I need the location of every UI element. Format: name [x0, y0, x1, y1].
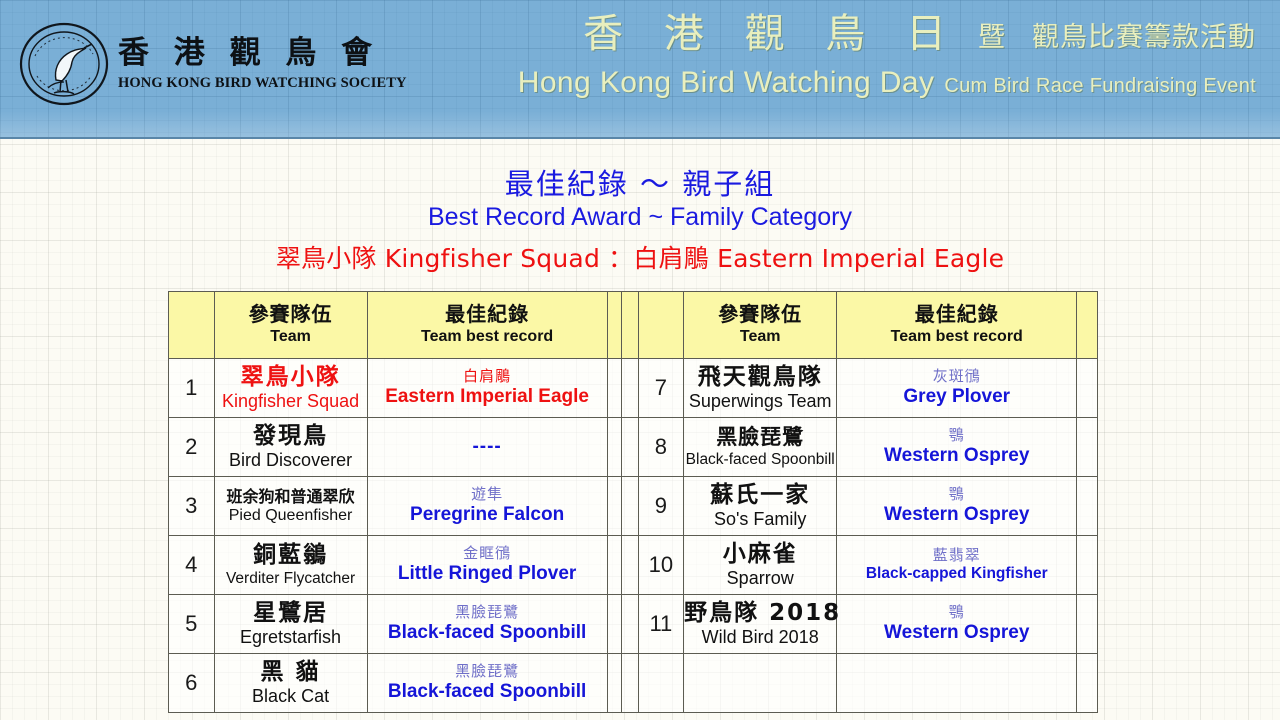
event-title-cn-conjunction: 暨: [978, 24, 1010, 54]
record-cell: ----: [367, 418, 607, 477]
spacer-cell-c: [1077, 418, 1098, 477]
row-number: 3: [169, 477, 215, 536]
team-name-en: Superwings Team: [684, 391, 836, 411]
results-table-body: 1 翠鳥小隊 Kingfisher Squad 白肩鵰 Eastern Impe…: [169, 359, 1098, 713]
team-name-cn: 飛天觀鳥隊: [684, 365, 836, 391]
team-name-en: Bird Discoverer: [215, 450, 367, 470]
header-record-right: 最佳紀錄 Team best record: [837, 292, 1077, 359]
event-title-cn-main: 香 港 觀 鳥 日: [583, 14, 960, 54]
header-index-left: [169, 292, 215, 359]
team-name-cn: 蘇氏一家: [684, 483, 836, 509]
header-spacer-c: [1077, 292, 1098, 359]
team-cell: 班余狗和普通翠欣 Pied Queenfisher: [214, 477, 367, 536]
record-name-cn: 黑臉琵鷺: [368, 663, 607, 680]
event-title-en-sub: Cum Bird Race Fundraising Event: [944, 76, 1256, 98]
table-row: 3 班余狗和普通翠欣 Pied Queenfisher 遊隼 Peregrine…: [169, 477, 1098, 536]
team-name-cn: 班余狗和普通翠欣: [215, 488, 367, 506]
record-cell: 黑臉琵鷺 Black-faced Spoonbill: [367, 595, 607, 654]
row-number: 11: [638, 595, 684, 654]
spacer-cell-a: [607, 418, 621, 477]
record-name-en: Black-capped Kingfisher: [837, 565, 1076, 582]
spacer-cell-a: [607, 595, 621, 654]
header-record-right-en: Team best record: [837, 327, 1076, 346]
team-name-en: Egretstarfish: [215, 627, 367, 647]
spacer-cell-c: [1077, 654, 1098, 713]
results-table: 參賽隊伍 Team 最佳紀錄 Team best record 參賽隊伍 Tea…: [168, 291, 1098, 713]
row-number: 1: [169, 359, 215, 418]
record-name-en: ----: [368, 436, 607, 458]
header-team-right-en: Team: [684, 327, 836, 346]
header-record-left-en: Team best record: [368, 327, 607, 346]
record-cell: 灰斑鴴 Grey Plover: [837, 359, 1077, 418]
team-cell: 星鷺居 Egretstarfish: [214, 595, 367, 654]
spacer-cell-c: [1077, 595, 1098, 654]
record-name-en: Western Osprey: [837, 445, 1076, 466]
header-team-right: 參賽隊伍 Team: [684, 292, 837, 359]
record-cell: [837, 654, 1077, 713]
team-name-cn: 星鷺居: [215, 601, 367, 627]
record-name-cn: 金眶鴴: [368, 545, 607, 562]
table-row: 2 發現鳥 Bird Discoverer ---- 8 黑臉琵鷺 Black-…: [169, 418, 1098, 477]
header-record-left-cn: 最佳紀錄: [368, 303, 607, 325]
award-title-block: 最佳紀錄 ～ 親子組 Best Record Award ~ Family Ca…: [0, 168, 1280, 274]
team-name-cn: 發現鳥: [215, 424, 367, 450]
team-name-en: Black Cat: [215, 686, 367, 706]
spacer-cell-c: [1077, 477, 1098, 536]
team-cell: 黑臉琵鷺 Black-faced Spoonbill: [684, 418, 837, 477]
team-cell: 飛天觀鳥隊 Superwings Team: [684, 359, 837, 418]
team-cell: 小麻雀 Sparrow: [684, 536, 837, 595]
team-name-cn: 銅藍鶲: [215, 543, 367, 569]
record-name-cn: 鶚: [837, 427, 1076, 444]
header-team-right-cn: 參賽隊伍: [684, 303, 836, 325]
header-spacer-a: [607, 292, 621, 359]
header-record-left: 最佳紀錄 Team best record: [367, 292, 607, 359]
team-cell: 黑 貓 Black Cat: [214, 654, 367, 713]
spacer-cell-c: [1077, 359, 1098, 418]
record-name-en: Black-faced Spoonbill: [368, 681, 607, 702]
record-cell: 藍翡翠 Black-capped Kingfisher: [837, 536, 1077, 595]
header-team-left-cn: 參賽隊伍: [215, 303, 367, 325]
record-name-cn: 灰斑鴴: [837, 368, 1076, 385]
team-name-cn: 黑 貓: [215, 660, 367, 686]
spacer-cell-a: [607, 359, 621, 418]
row-number: 7: [638, 359, 684, 418]
spacer-cell-b: [622, 654, 639, 713]
team-cell: 野鳥隊 2018 Wild Bird 2018: [684, 595, 837, 654]
award-title-cn: 最佳紀錄 ～ 親子組: [0, 168, 1280, 201]
team-name-en: Kingfisher Squad: [215, 391, 367, 411]
event-title-block: 香 港 觀 鳥 日 暨 觀鳥比賽籌款活動 Hong Kong Bird Watc…: [518, 14, 1256, 98]
record-cell: 遊隼 Peregrine Falcon: [367, 477, 607, 536]
spacer-cell-b: [622, 595, 639, 654]
table-row: 1 翠鳥小隊 Kingfisher Squad 白肩鵰 Eastern Impe…: [169, 359, 1098, 418]
header-team-left-en: Team: [215, 327, 367, 346]
record-name-en: Little Ringed Plover: [368, 563, 607, 584]
row-number: [638, 654, 684, 713]
spacer-cell-a: [607, 536, 621, 595]
header-record-right-cn: 最佳紀錄: [837, 303, 1076, 325]
row-number: 8: [638, 418, 684, 477]
table-row: 4 銅藍鶲 Verditer Flycatcher 金眶鴴 Little Rin…: [169, 536, 1098, 595]
row-number: 5: [169, 595, 215, 654]
record-name-en: Eastern Imperial Eagle: [368, 386, 607, 407]
spacer-cell-b: [622, 477, 639, 536]
record-name-en: Peregrine Falcon: [368, 504, 607, 525]
table-row: 5 星鷺居 Egretstarfish 黑臉琵鷺 Black-faced Spo…: [169, 595, 1098, 654]
spacer-cell-b: [622, 418, 639, 477]
record-name-en: Western Osprey: [837, 504, 1076, 525]
society-name-cn: 香 港 觀 鳥 會: [118, 38, 407, 69]
row-number: 10: [638, 536, 684, 595]
team-name-en: Pied Queenfisher: [215, 507, 367, 525]
record-name-cn: 鶚: [837, 486, 1076, 503]
society-logo-block: 香 港 觀 鳥 會 HONG KONG BIRD WATCHING SOCIET…: [18, 18, 407, 110]
team-cell: 銅藍鶲 Verditer Flycatcher: [214, 536, 367, 595]
row-number: 4: [169, 536, 215, 595]
row-number: 9: [638, 477, 684, 536]
spacer-cell-b: [622, 359, 639, 418]
record-name-cn: 鶚: [837, 604, 1076, 621]
table-row: 6 黑 貓 Black Cat 黑臉琵鷺 Black-faced Spoonbi…: [169, 654, 1098, 713]
team-cell: [684, 654, 837, 713]
team-name-en: Wild Bird 2018: [684, 627, 836, 647]
spacer-cell-a: [607, 477, 621, 536]
team-name-cn: 翠鳥小隊: [215, 365, 367, 391]
record-cell: 金眶鴴 Little Ringed Plover: [367, 536, 607, 595]
row-number: 2: [169, 418, 215, 477]
team-name-en: Verditer Flycatcher: [215, 570, 367, 587]
bird-seal-icon: [18, 18, 110, 110]
record-name-en: Black-faced Spoonbill: [368, 622, 607, 643]
record-cell: 黑臉琵鷺 Black-faced Spoonbill: [367, 654, 607, 713]
record-cell: 白肩鵰 Eastern Imperial Eagle: [367, 359, 607, 418]
event-title-cn-sub: 觀鳥比賽籌款活動: [1032, 24, 1256, 54]
record-cell: 鶚 Western Osprey: [837, 418, 1077, 477]
table-header-row: 參賽隊伍 Team 最佳紀錄 Team best record 參賽隊伍 Tea…: [169, 292, 1098, 359]
header-spacer-b: [622, 292, 639, 359]
event-title-en-row: Hong Kong Bird Watching Day Cum Bird Rac…: [518, 68, 1256, 98]
society-name-en: HONG KONG BIRD WATCHING SOCIETY: [118, 76, 407, 91]
team-name-en: Black-faced Spoonbill: [684, 451, 836, 468]
team-name-cn: 野鳥隊 2018: [684, 601, 836, 627]
spacer-cell-b: [622, 536, 639, 595]
spacer-cell-c: [1077, 536, 1098, 595]
team-cell: 翠鳥小隊 Kingfisher Squad: [214, 359, 367, 418]
results-table-wrap: 參賽隊伍 Team 最佳紀錄 Team best record 參賽隊伍 Tea…: [168, 291, 1098, 713]
team-cell: 蘇氏一家 So's Family: [684, 477, 837, 536]
header-index-right: [638, 292, 684, 359]
event-title-cn-row: 香 港 觀 鳥 日 暨 觀鳥比賽籌款活動: [518, 14, 1256, 54]
award-winner-line: 翠鳥小隊 Kingfisher Squad ：白肩鵰 Eastern Imper…: [0, 245, 1280, 274]
team-name-cn: 黑臉琵鷺: [684, 426, 836, 450]
record-cell: 鶚 Western Osprey: [837, 595, 1077, 654]
record-name-en: Grey Plover: [837, 386, 1076, 407]
spacer-cell-a: [607, 654, 621, 713]
record-name-cn: 黑臉琵鷺: [368, 604, 607, 621]
record-name-en: Western Osprey: [837, 622, 1076, 643]
team-name-en: Sparrow: [684, 568, 836, 588]
header-team-left: 參賽隊伍 Team: [214, 292, 367, 359]
team-name-en: So's Family: [684, 509, 836, 529]
row-number: 6: [169, 654, 215, 713]
team-cell: 發現鳥 Bird Discoverer: [214, 418, 367, 477]
team-name-cn: 小麻雀: [684, 542, 836, 568]
record-name-cn: 藍翡翠: [837, 547, 1076, 564]
event-title-en-main: Hong Kong Bird Watching Day: [518, 68, 935, 98]
record-name-cn: 遊隼: [368, 486, 607, 503]
record-cell: 鶚 Western Osprey: [837, 477, 1077, 536]
award-title-en: Best Record Award ~ Family Category: [0, 204, 1280, 232]
record-name-cn: 白肩鵰: [368, 368, 607, 385]
